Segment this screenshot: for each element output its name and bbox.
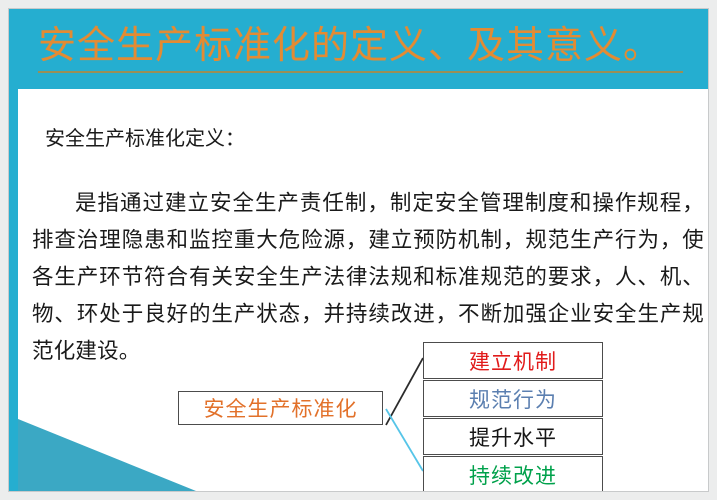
diagram-node-standardize-behavior-label: 规范行为 bbox=[469, 384, 557, 414]
diagram-node-continuous-improvement[interactable]: 持续改进 bbox=[423, 456, 603, 492]
diagram-node-continuous-improvement-label: 持续改进 bbox=[469, 460, 557, 490]
corner-triangle-decoration bbox=[18, 419, 196, 491]
slide-canvas: 安全生产标准化的定义、及其意义。 安全生产标准化定义： 是指通过建立安全生产责任… bbox=[8, 8, 709, 492]
diagram-node-standardize-behavior[interactable]: 规范行为 bbox=[423, 380, 603, 417]
diagram-node-establish-mechanism[interactable]: 建立机制 bbox=[423, 342, 603, 379]
page-title: 安全生产标准化的定义、及其意义。 bbox=[38, 23, 683, 73]
diagram-node-core[interactable]: 安全生产标准化 bbox=[178, 391, 383, 425]
slide-frame: 安全生产标准化的定义、及其意义。 安全生产标准化定义： 是指通过建立安全生产责任… bbox=[0, 0, 717, 500]
diagram-node-core-label: 安全生产标准化 bbox=[204, 393, 358, 423]
left-accent-strip bbox=[9, 89, 18, 492]
diagram-node-improve-level[interactable]: 提升水平 bbox=[423, 418, 603, 455]
definition-paragraph: 是指通过建立安全生产责任制，制定安全管理制度和操作规程，排查治理隐患和监控重大危… bbox=[32, 185, 704, 370]
definition-subheading: 安全生产标准化定义： bbox=[45, 122, 245, 151]
diagram-node-establish-mechanism-label: 建立机制 bbox=[469, 346, 557, 376]
diagram-node-improve-level-label: 提升水平 bbox=[469, 422, 557, 452]
title-banner: 安全生产标准化的定义、及其意义。 bbox=[9, 9, 709, 89]
